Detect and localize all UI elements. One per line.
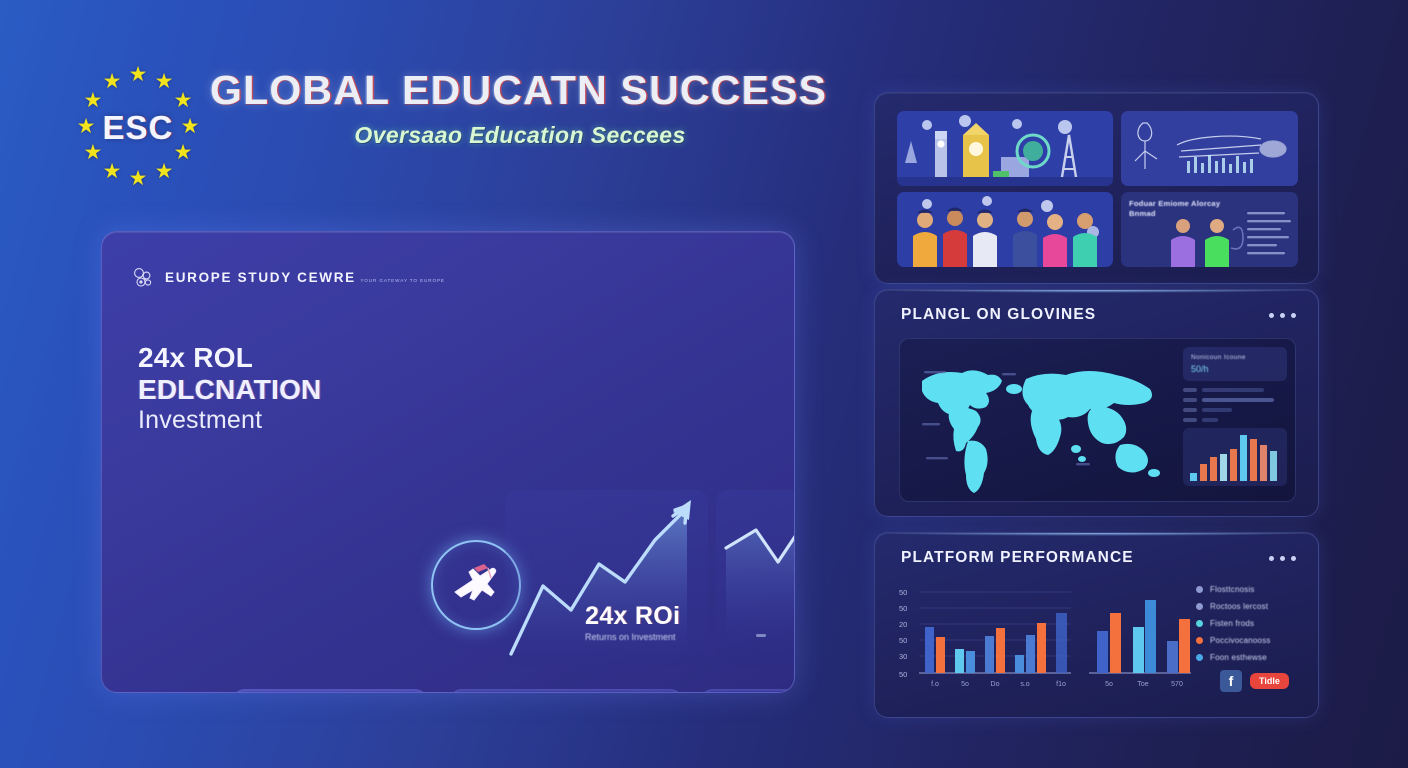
eu-star: ★ bbox=[128, 169, 148, 189]
side-row bbox=[1183, 398, 1287, 402]
panel-glow bbox=[875, 290, 1318, 293]
svg-text:Toe: Toe bbox=[1137, 681, 1148, 688]
hero-line-2: EDLCNATION bbox=[138, 374, 398, 406]
hero-heading: 24x ROL EDLCNATION Investment bbox=[138, 342, 398, 435]
study-abroad-sketch-tile[interactable] bbox=[1121, 111, 1298, 186]
brand-lockup: EUROPE STUDY CEWRE YOUR GATEWAY TO EUROP… bbox=[130, 265, 445, 291]
eu-star: ★ bbox=[154, 72, 174, 92]
legend-label: Fisten frods bbox=[1210, 619, 1254, 628]
legend-label: Poccivocanooss bbox=[1210, 636, 1271, 645]
svg-text:50: 50 bbox=[899, 636, 907, 645]
legend-label: Roctoos lercost bbox=[1210, 602, 1268, 611]
roi-growth-chart-a: 24x ROi Returns on Investment bbox=[505, 490, 708, 666]
hero-line-3: Investment bbox=[138, 406, 398, 435]
svg-text:5o: 5o bbox=[961, 681, 969, 688]
legend-item: Roctoos lercost bbox=[1196, 602, 1311, 611]
svg-text:50: 50 bbox=[899, 670, 907, 679]
svg-text:30: 30 bbox=[899, 652, 907, 661]
brand-name: EUROPE STUDY CEWRE bbox=[165, 270, 356, 285]
more-options-icon[interactable] bbox=[1269, 313, 1296, 318]
legend-label: Foon esthewse bbox=[1210, 653, 1267, 662]
main-hero-card: EUROPE STUDY CEWRE YOUR GATEWAY TO EUROP… bbox=[101, 231, 795, 693]
stat-card-global-education-success[interactable]: ₹4RBAL EDUCATION SUCCESS bbox=[232, 689, 428, 693]
eu-star: ★ bbox=[154, 162, 174, 182]
svg-text:Do: Do bbox=[991, 681, 1000, 688]
eu-star: ★ bbox=[173, 91, 193, 111]
eu-star: ★ bbox=[83, 91, 103, 111]
legend-item: Fisten frods bbox=[1196, 619, 1311, 628]
roi-value: 24x ROi bbox=[585, 602, 680, 631]
social-badges: f Tidle bbox=[1220, 670, 1311, 692]
map-metric-label: Nonicoun Icoune bbox=[1191, 354, 1279, 361]
legend-item: Poccivocanooss bbox=[1196, 636, 1311, 645]
legend-item: Flosttcnosis bbox=[1196, 585, 1311, 594]
eu-star: ★ bbox=[180, 117, 200, 137]
stat-global-text: ₹4RBAL EDUCATION SUCCESS bbox=[233, 690, 427, 693]
performance-panel-title: PLATFORM PERFORMANCE bbox=[901, 549, 1134, 567]
roi-growth-chart-b bbox=[716, 490, 795, 666]
legend-swatch bbox=[1196, 637, 1203, 644]
eu-star: ★ bbox=[76, 117, 96, 137]
performance-legend: Flosttcnosis Roctoos lercost Fisten frod… bbox=[1196, 585, 1311, 692]
svg-text:50: 50 bbox=[899, 604, 907, 613]
svg-text:f.o: f.o bbox=[931, 681, 939, 688]
legend-label: Flosttcnosis bbox=[1210, 585, 1255, 594]
eu-star: ★ bbox=[102, 162, 122, 182]
eu-star: ★ bbox=[173, 143, 193, 163]
svg-text:20: 20 bbox=[899, 620, 907, 629]
legend-swatch bbox=[1196, 586, 1203, 593]
students-group-tile[interactable] bbox=[897, 192, 1113, 267]
global-reach-panel: PLANGL ON GLOVINES bbox=[874, 289, 1319, 517]
map-body: Nonicoun Icoune 50/h bbox=[899, 338, 1296, 502]
svg-text:570: 570 bbox=[1171, 681, 1183, 688]
map-side-panel: Nonicoun Icoune 50/h bbox=[1183, 347, 1287, 495]
legend-swatch bbox=[1196, 654, 1203, 661]
panel-glow bbox=[875, 533, 1318, 536]
page-title: GLOBAL EDUCATN SUCCESS bbox=[210, 67, 850, 114]
page-subtitle: Oversaao Education Seccees bbox=[210, 122, 830, 149]
advisory-tile[interactable]: Foduar Emiome Alorcay Bnmad bbox=[1121, 192, 1298, 267]
side-row bbox=[1183, 418, 1287, 422]
hero-line-1: 24x ROL bbox=[138, 342, 398, 374]
header: ESC ★★★★★★★★★★★★ GLOBAL EDUCATN SUCCESS … bbox=[60, 55, 850, 205]
advisory-tile-label: Foduar Emiome Alorcay Bnmad bbox=[1129, 199, 1220, 220]
map-panel-title: PLANGL ON GLOVINES bbox=[901, 306, 1096, 324]
eu-star: ★ bbox=[83, 143, 103, 163]
legend-swatch bbox=[1196, 620, 1203, 627]
legend-swatch bbox=[1196, 603, 1203, 610]
eu-star: ★ bbox=[128, 65, 148, 85]
svg-text:50: 50 bbox=[899, 588, 907, 597]
map-panel-mini-bars bbox=[1183, 428, 1287, 486]
map-metric-card: Nonicoun Icoune 50/h bbox=[1183, 347, 1287, 381]
roi-caption: Returns on Investment bbox=[585, 632, 680, 642]
more-options-icon[interactable] bbox=[1269, 556, 1296, 561]
brand-tagline: YOUR GATEWAY TO EUROPE bbox=[360, 278, 445, 283]
map-metric-value: 50/h bbox=[1191, 364, 1279, 374]
side-row bbox=[1183, 408, 1287, 412]
map-side-rows bbox=[1183, 388, 1287, 422]
title-block: GLOBAL EDUCATN SUCCESS Oversaao Educatio… bbox=[210, 67, 850, 149]
facebook-badge[interactable]: f bbox=[1220, 670, 1242, 692]
legend-item: Foon esthewse bbox=[1196, 653, 1311, 662]
stat-card-leads-search[interactable]: 21K Leads bbox=[700, 689, 795, 693]
gallery-panel: Foduar Emiome Alorcay Bnmad bbox=[874, 92, 1319, 284]
side-row bbox=[1183, 388, 1287, 392]
stat-card-revenue[interactable]: ₹4Cr Revende Achieved Thised This Year bbox=[449, 689, 683, 693]
svg-text:5o: 5o bbox=[1105, 681, 1113, 688]
svg-text:s.o: s.o bbox=[1020, 681, 1029, 688]
svg-text:f1o: f1o bbox=[1056, 681, 1066, 688]
poster-root: ESC ★★★★★★★★★★★★ GLOBAL EDUCATN SUCCESS … bbox=[0, 0, 1408, 768]
world-map[interactable] bbox=[906, 345, 1178, 497]
eu-star: ★ bbox=[102, 72, 122, 92]
landmarks-tile[interactable] bbox=[897, 111, 1113, 186]
youtube-badge[interactable]: Tidle bbox=[1250, 673, 1289, 689]
globe-network-icon bbox=[130, 265, 156, 291]
roi-badge: 24x ROi Returns on Investment bbox=[585, 602, 680, 642]
eu-stars-logo: ESC ★★★★★★★★★★★★ bbox=[68, 57, 208, 197]
